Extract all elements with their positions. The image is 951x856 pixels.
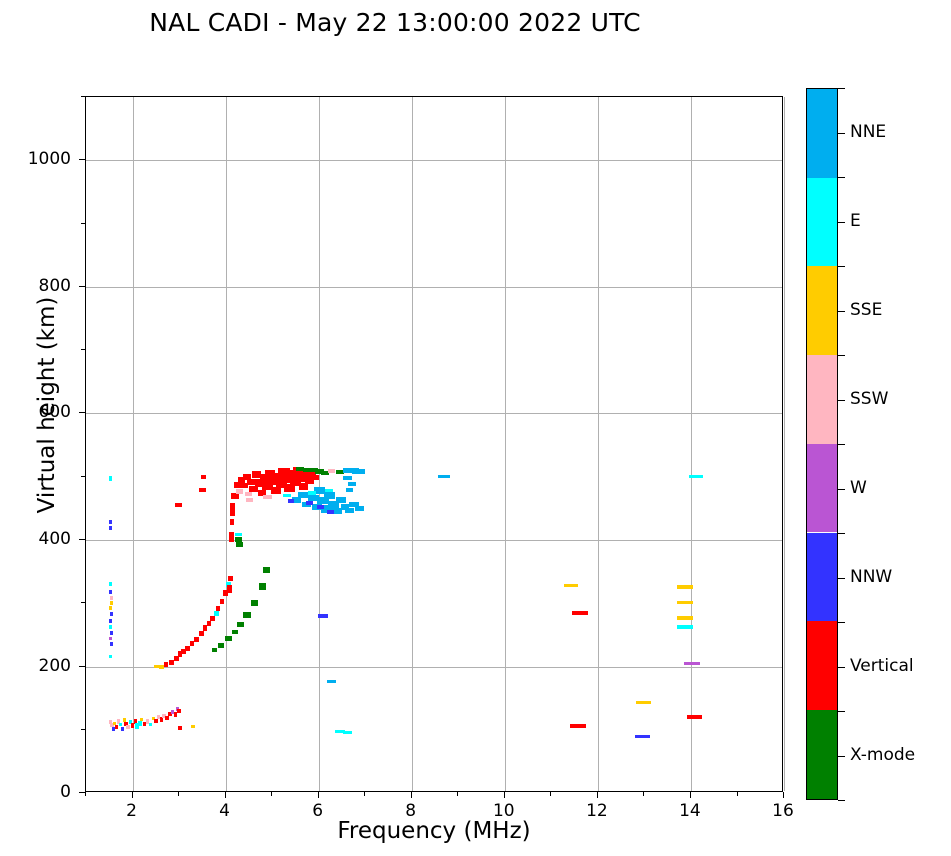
colorbar-segment-e: [807, 178, 837, 267]
colorbar-label-ssw: SSW: [850, 389, 888, 409]
x-tick-minor: [178, 792, 179, 796]
y-tick-minor: [81, 729, 85, 730]
data-point: [185, 646, 190, 652]
data-point: [138, 721, 142, 726]
data-point: [140, 718, 143, 722]
y-tick: [79, 286, 85, 287]
data-point: [109, 655, 112, 659]
data-point: [110, 596, 113, 600]
data-point: [227, 585, 232, 593]
data-point: [348, 482, 356, 486]
x-tick: [318, 792, 319, 798]
data-point: [236, 489, 243, 494]
data-point: [210, 616, 215, 622]
data-point: [126, 725, 129, 729]
data-point: [230, 503, 235, 515]
x-tick: [783, 792, 784, 798]
data-point: [149, 723, 152, 727]
colorbar-boundary-tick: [838, 800, 845, 801]
data-point: [327, 510, 334, 514]
colorbar-label-e: E: [850, 211, 861, 231]
data-point: [263, 495, 271, 499]
colorbar-tick: [838, 133, 845, 134]
colorbar-tick: [838, 756, 845, 757]
ionogram-figure: NAL CADI - May 22 13:00:00 2022 UTC 2468…: [0, 0, 951, 856]
data-point: [299, 483, 308, 490]
data-point: [345, 508, 353, 513]
colorbar-segment-nne: [807, 89, 837, 178]
colorbar-tick: [838, 489, 845, 490]
data-point: [175, 503, 182, 507]
data-point: [109, 637, 112, 641]
colorbar-tick: [838, 222, 845, 223]
data-point: [212, 648, 218, 652]
colorbar-segment-x-mode: [807, 710, 837, 799]
data-point: [115, 725, 118, 729]
data-point: [684, 662, 701, 665]
data-point: [325, 489, 333, 493]
data-point: [121, 727, 124, 731]
data-point: [109, 520, 112, 524]
data-point: [109, 606, 112, 610]
colorbar-tick: [838, 400, 845, 401]
colorbar-segment-w: [807, 444, 837, 533]
data-point: [564, 584, 578, 588]
data-point: [343, 476, 352, 480]
data-point: [177, 709, 180, 713]
data-point: [109, 526, 112, 530]
data-point: [311, 475, 318, 480]
data-point: [220, 599, 225, 605]
data-point: [677, 625, 693, 629]
data-point: [178, 726, 182, 730]
data-point: [109, 619, 112, 623]
colorbar-boundary-tick: [838, 533, 845, 534]
data-point: [677, 616, 693, 620]
data-point: [572, 611, 588, 615]
y-axis-label: Virtual height (km): [34, 240, 60, 570]
colorbar-boundary-tick: [838, 622, 845, 623]
x-tick-minor: [737, 792, 738, 796]
data-point: [687, 715, 702, 719]
data-point: [438, 475, 450, 479]
colorbar-segment-nnw: [807, 533, 837, 622]
data-point: [214, 611, 219, 616]
y-tick-minor: [81, 349, 85, 350]
colorbar-boundary-tick: [838, 88, 845, 89]
plot-area: [85, 96, 783, 792]
y-tick-minor: [81, 602, 85, 603]
data-point: [318, 614, 328, 618]
colorbar-label-x-mode: X-mode: [850, 745, 915, 765]
data-point: [570, 724, 586, 728]
x-tick: [504, 792, 505, 798]
data-point: [235, 533, 242, 536]
x-tick: [411, 792, 412, 798]
colorbar: [806, 88, 838, 800]
data-point: [237, 622, 244, 627]
data-point: [317, 505, 324, 509]
data-point: [109, 590, 112, 594]
gridline-vertical: [784, 97, 785, 791]
x-tick: [597, 792, 598, 798]
colorbar-boundary-tick: [838, 266, 845, 267]
data-point: [164, 662, 169, 666]
colorbar-boundary-tick: [838, 355, 845, 356]
x-tick: [132, 792, 133, 798]
data-point: [677, 601, 693, 605]
data-point: [263, 567, 270, 573]
colorbar-label-nne: NNE: [850, 122, 886, 142]
data-point: [160, 717, 164, 721]
data-point: [283, 494, 290, 498]
colorbar-title: Azimuth Direction: [947, 128, 951, 458]
data-point: [308, 491, 316, 495]
data-point: [109, 582, 112, 586]
data-point: [635, 735, 650, 739]
colorbar-label-sse: SSE: [850, 300, 882, 320]
data-point: [201, 475, 207, 479]
data-point: [194, 637, 199, 643]
data-point: [246, 498, 253, 502]
y-tick: [79, 666, 85, 667]
data-point: [251, 600, 258, 606]
y-tick-label: 0: [9, 782, 71, 802]
data-point: [199, 488, 206, 492]
colorbar-tick: [838, 311, 845, 312]
data-point: [228, 576, 233, 581]
data-point: [109, 476, 112, 480]
data-point: [259, 583, 266, 590]
y-tick: [79, 792, 85, 793]
data-points-layer: [86, 97, 782, 791]
y-tick: [79, 412, 85, 413]
x-tick: [690, 792, 691, 798]
data-point: [346, 488, 353, 492]
data-point: [119, 723, 122, 727]
data-point: [207, 621, 212, 627]
y-tick-minor: [81, 223, 85, 224]
data-point: [110, 612, 113, 616]
data-point: [229, 532, 234, 542]
data-point: [689, 475, 703, 479]
data-point: [110, 642, 113, 646]
y-tick-minor: [81, 96, 85, 97]
data-point: [230, 519, 235, 525]
data-point: [343, 731, 351, 734]
data-point: [336, 497, 345, 503]
y-tick: [79, 539, 85, 540]
data-point: [191, 725, 196, 729]
y-tick: [79, 159, 85, 160]
x-tick-minor: [271, 792, 272, 796]
data-point: [165, 716, 169, 720]
x-tick-minor: [457, 792, 458, 796]
colorbar-boundary-tick: [838, 177, 845, 178]
x-tick-minor: [550, 792, 551, 796]
data-point: [216, 606, 221, 612]
data-point: [236, 542, 243, 547]
colorbar-tick: [838, 667, 845, 668]
colorbar-segment-ssw: [807, 355, 837, 444]
colorbar-boundary-tick: [838, 711, 845, 712]
colorbar-label-nnw: NNW: [850, 567, 892, 587]
data-point: [232, 630, 239, 634]
y-tick-minor: [81, 476, 85, 477]
data-point: [245, 492, 252, 496]
x-tick-minor: [85, 792, 86, 796]
data-point: [288, 499, 295, 503]
data-point: [243, 612, 250, 618]
data-point: [218, 643, 225, 647]
y-tick-label: 200: [9, 656, 71, 676]
data-point: [225, 636, 232, 640]
colorbar-segment-vertical: [807, 621, 837, 710]
data-point: [109, 625, 112, 629]
data-point: [199, 631, 204, 637]
data-point: [355, 506, 364, 511]
colorbar-tick: [838, 578, 845, 579]
y-tick-label: 1000: [9, 149, 71, 169]
data-point: [306, 501, 313, 505]
x-tick-minor: [643, 792, 644, 796]
data-point: [327, 680, 336, 684]
colorbar-label-vertical: Vertical: [850, 656, 914, 676]
data-point: [298, 492, 308, 498]
figure-title: NAL CADI - May 22 13:00:00 2022 UTC: [0, 8, 790, 37]
x-tick: [225, 792, 226, 798]
x-axis-label: Frequency (MHz): [85, 818, 783, 844]
data-point: [677, 585, 693, 589]
colorbar-label-w: W: [850, 478, 867, 498]
data-point: [324, 492, 335, 499]
colorbar-segment-sse: [807, 266, 837, 355]
colorbar-boundary-tick: [838, 444, 845, 445]
data-point: [303, 468, 310, 472]
data-point: [636, 701, 651, 704]
data-point: [352, 469, 365, 474]
data-point: [328, 469, 335, 473]
data-point: [110, 601, 113, 605]
data-point: [154, 719, 158, 723]
x-tick-minor: [364, 792, 365, 796]
data-point: [110, 631, 113, 635]
